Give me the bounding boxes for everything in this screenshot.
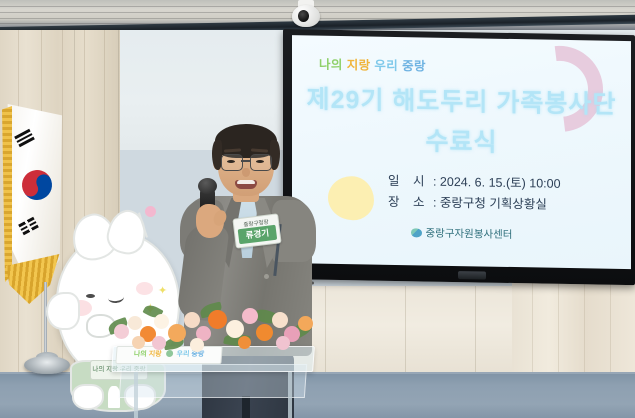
camera-lens-icon [298, 10, 309, 22]
name-badge: 중랑구청장 류경기 [232, 213, 281, 248]
mascot-antenna-ball [145, 206, 156, 217]
flower-arrangement [104, 300, 320, 356]
slide-meta-value: : 2024. 6. 15.(토) 10:00 [433, 175, 561, 191]
slide-meta-label: 일 시 [388, 174, 429, 189]
sparkle-icon: ✦ [158, 284, 167, 297]
speaker-eye [256, 160, 264, 163]
speaker-nose [242, 168, 250, 177]
mascot-foot [72, 384, 104, 410]
ceiling-camera-icon [291, 0, 321, 30]
speaker-hair [215, 124, 277, 158]
slide-title-line1: 제29기 해도두리 가족봉사단 [292, 79, 631, 121]
slide-title-line2: 수료식 [292, 119, 631, 161]
slide-meta-label: 장 소 [388, 195, 429, 210]
slide-footer-text: 중랑구자원봉사센터 [426, 227, 513, 241]
jacket-button [264, 274, 269, 279]
lectern-leg [288, 372, 292, 418]
flag-pole [44, 282, 47, 362]
slide-footer: 중랑구자원봉사센터 [292, 223, 631, 244]
slide-slogan: 나의 지랑 우리 중랑 [319, 54, 426, 75]
lectern-leg [134, 372, 138, 418]
name-badge-name: 류경기 [238, 225, 278, 245]
slide-meta-row: 일 시 : 2024. 6. 15.(토) 10:00 [388, 171, 561, 195]
speaker-eye [227, 160, 235, 163]
flag-fringe [2, 106, 12, 282]
mascot-cheek [136, 282, 153, 295]
photo-scene: 나의 지랑 우리 중랑 제29기 해도두리 가족봉사단 수료식 일 시 : 20… [0, 0, 635, 418]
slogan-part-4: 중랑 [402, 59, 426, 73]
slogan-part-2: 지랑 [347, 58, 371, 72]
slide-meta-value: : 중랑구청 기획상황실 [433, 196, 547, 212]
presentation-display: 나의 지랑 우리 중랑 제29기 해도두리 가족봉사단 수료식 일 시 : 20… [283, 29, 635, 285]
microphone-head-icon [198, 178, 217, 194]
mascot-arm [46, 292, 80, 330]
slogan-part-3: 우리 [374, 59, 398, 73]
display-brand-logo [458, 271, 486, 279]
display-screen: 나의 지랑 우리 중랑 제29기 해도두리 가족봉사단 수료식 일 시 : 20… [292, 35, 631, 269]
slogan-part-1: 나의 [319, 58, 343, 72]
speaker-teeth [237, 180, 255, 184]
yellow-circle-decoration [328, 176, 374, 221]
slide-meta: 일 시 : 2024. 6. 15.(토) 10:00 장 소 : 중랑구청 기… [388, 171, 561, 216]
right-wood-wall [512, 278, 635, 384]
eyeglasses-bridge [241, 160, 250, 162]
mascot-eye [86, 294, 95, 298]
slide-meta-row: 장 소 : 중랑구청 기획상황실 [388, 192, 561, 216]
volunteer-center-logo-icon [411, 228, 422, 237]
